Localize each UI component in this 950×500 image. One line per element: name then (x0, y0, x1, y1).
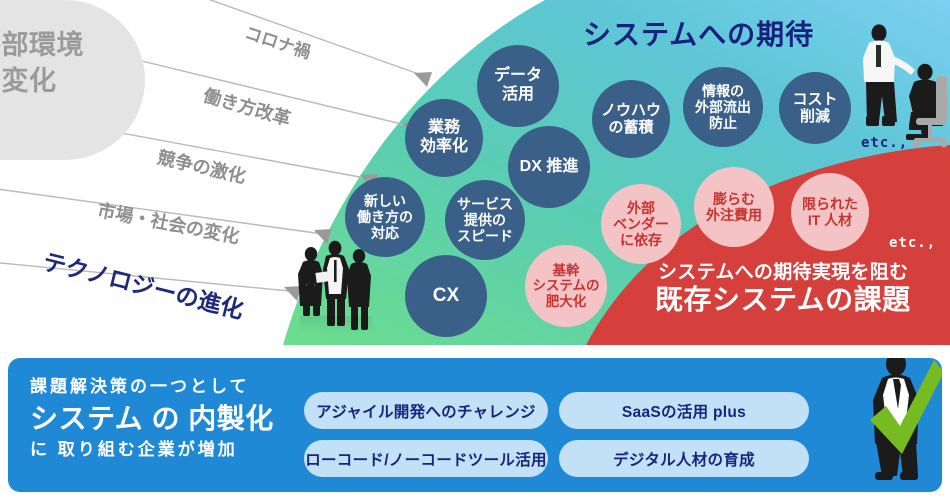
solution-banner: 課題解決策の一つとして システム の 内製化 に 取り組む企業が増加 アジャイル… (8, 358, 942, 492)
businessman-check-graphic (848, 358, 942, 492)
expectation-bubble-cost[interactable]: コスト 削減 (779, 72, 851, 144)
external-environment-line1: 外部環境 (0, 28, 144, 64)
solution-pill-talent[interactable]: デジタル人材の育成 (559, 440, 809, 477)
infographic-root: 外部環境 の変化 コロナ禍 働き方改革 競争の激化 市場・社会の変化 テクノロジ… (0, 0, 950, 500)
solution-pill-agile[interactable]: アジャイル開発へのチャレンジ (304, 392, 548, 429)
issue-bubble-talent[interactable]: 限られた IT 人材 (791, 173, 869, 251)
expectation-bubble-dx[interactable]: DX 推進 (508, 126, 590, 208)
banner-left-text: 課題解決策の一つとして システム の 内製化 に 取り組む企業が増加 (30, 374, 300, 463)
expectations-etc: etc., (861, 135, 908, 151)
expectation-bubble-knowhow[interactable]: ノウハウ の蓄積 (592, 80, 670, 158)
banner-lead: 課題解決策の一つとして (30, 374, 300, 400)
expectation-bubble-data[interactable]: データ 活用 (477, 45, 559, 127)
issues-title: 既存システムの課題 (655, 278, 911, 318)
expectation-bubble-efficiency[interactable]: 業務 効率化 (405, 99, 483, 177)
expectation-bubble-leak[interactable]: 情報の 外部流出 防止 (683, 67, 763, 147)
external-environment-line2: の変化 (0, 64, 144, 100)
issue-bubble-cost[interactable]: 膨らむ 外注費用 (694, 167, 774, 247)
expectations-title: システムへの期待 (583, 13, 814, 53)
expectation-bubble-worksty[interactable]: 新しい 働き方の 対応 (345, 177, 425, 257)
expectation-bubble-cx[interactable]: CX (405, 255, 487, 337)
solution-pill-lowcode[interactable]: ローコード/ノーコードツール活用 (304, 440, 548, 477)
issue-bubble-vendor[interactable]: 外部 ベンダー に依存 (601, 184, 681, 264)
expectation-bubble-speed[interactable]: サービス 提供の スピード (445, 180, 525, 260)
solution-pill-saas[interactable]: SaaSの活用 plus (559, 392, 809, 429)
issue-bubble-legacy[interactable]: 基幹 システムの 肥大化 (525, 245, 607, 327)
banner-headline: システム の 内製化 (30, 400, 300, 438)
banner-tail: に 取り組む企業が増加 (30, 437, 300, 463)
external-environment-label: 外部環境 の変化 (0, 28, 144, 99)
diagram-upper-area: 外部環境 の変化 コロナ禍 働き方改革 競争の激化 市場・社会の変化 テクノロジ… (0, 0, 950, 345)
issues-etc: etc., (889, 235, 936, 251)
